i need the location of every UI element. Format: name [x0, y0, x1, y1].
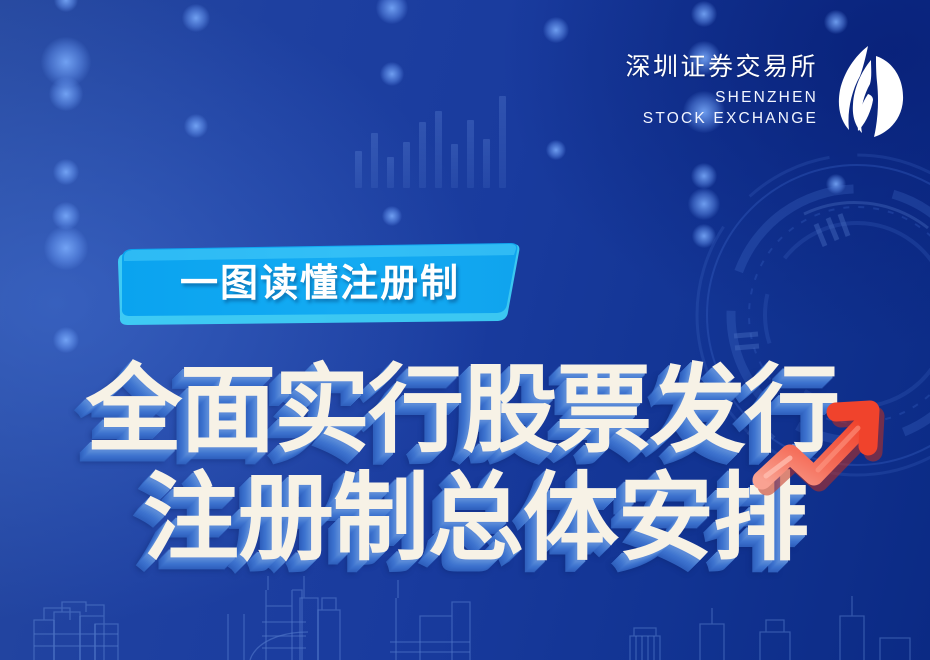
bar-chart-bar	[355, 151, 362, 188]
bar-chart-bar	[451, 144, 458, 188]
bar-chart-bar	[387, 157, 394, 188]
bar-chart-bar	[371, 133, 378, 188]
bar-chart-bar	[483, 139, 490, 188]
logo-text-block: 深圳证券交易所 SHENZHEN STOCK EXCHANGE	[625, 54, 818, 129]
bar-chart-bar	[403, 142, 410, 188]
bar-chart-bar	[499, 96, 506, 188]
glow-dot	[44, 226, 88, 270]
glow-dot	[184, 114, 207, 137]
glow-dot	[546, 140, 567, 161]
logo-name-en-line2: STOCK EXCHANGE	[625, 109, 818, 129]
glow-dot	[824, 10, 847, 33]
glow-dot	[380, 62, 403, 85]
bar-chart-bar	[467, 120, 474, 188]
bar-chart-bar	[435, 111, 442, 188]
glow-dot	[53, 327, 79, 353]
badge-label: 一图读懂注册制	[110, 242, 522, 316]
glow-dot	[382, 206, 403, 227]
logo-name-cn: 深圳证券交易所	[625, 54, 818, 79]
glow-dot	[691, 1, 717, 27]
glow-dot	[54, 0, 77, 12]
bar-chart-bar	[419, 122, 426, 188]
logo-name-en-line1: SHENZHEN	[625, 88, 818, 108]
glow-dot	[182, 4, 211, 33]
szse-leaf-emblem-icon	[832, 44, 904, 139]
glow-dot	[376, 0, 407, 24]
szse-logo: 深圳证券交易所 SHENZHEN STOCK EXCHANGE	[625, 44, 904, 139]
poster-canvas: 深圳证券交易所 SHENZHEN STOCK EXCHANGE	[0, 0, 930, 660]
glow-dot	[543, 17, 569, 43]
badge-一图读懂注册制[interactable]: 一图读懂注册制	[110, 242, 522, 326]
headline-line-2: 注册制总体安排	[143, 470, 808, 566]
growth-arrow-up-icon	[752, 388, 892, 500]
logo-name-en: SHENZHEN STOCK EXCHANGE	[625, 88, 818, 129]
glow-dot	[49, 77, 83, 111]
bar-chart-watermark-icon	[355, 96, 506, 188]
headline-line-1: 全面实行股票发行	[86, 362, 838, 458]
glow-dot	[53, 159, 79, 185]
